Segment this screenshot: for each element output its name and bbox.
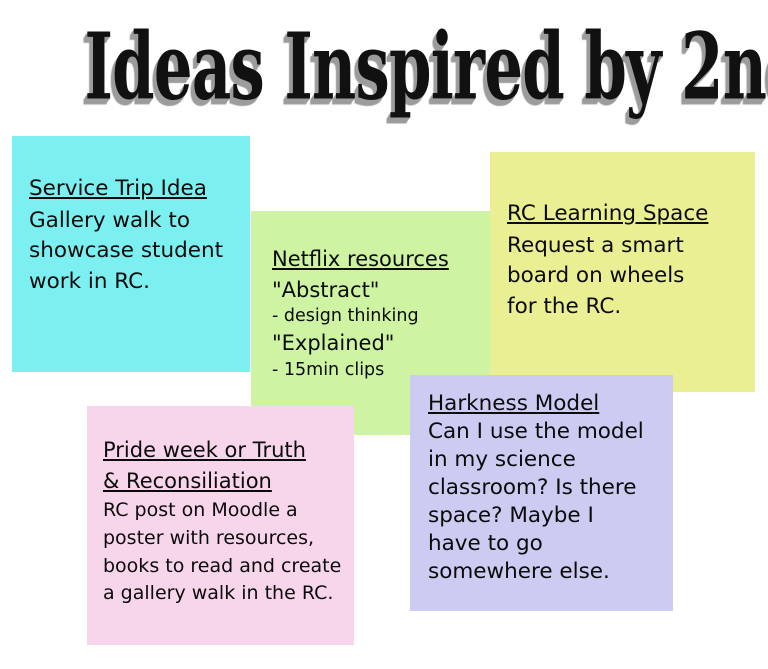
note-body-line: somewhere else. xyxy=(428,558,665,586)
note-body-line: classroom? Is there xyxy=(428,474,665,502)
sticky-note-board: Ideas Inspired by 2nd F2F Service Trip I… xyxy=(0,0,768,669)
note-body: Gallery walk to showcase student work in… xyxy=(29,206,234,298)
note-body-line: showcase student xyxy=(29,236,234,267)
note-body-line: Gallery walk to xyxy=(29,206,234,237)
note-body: Can I use the model in my science classr… xyxy=(428,418,665,586)
page-title: Ideas Inspired by 2nd F2F xyxy=(84,22,683,114)
note-body-line: "Explained" xyxy=(272,329,483,358)
note-body: "Abstract" - design thinking "Explained"… xyxy=(272,276,483,384)
note-body: RC post on Moodle a poster with resource… xyxy=(103,497,346,607)
note-body-subline: - design thinking xyxy=(272,304,483,329)
note-body-line: have to go xyxy=(428,530,665,558)
note-body-line: space? Maybe I xyxy=(428,502,665,530)
note-body-line: RC post on Moodle a xyxy=(103,497,346,525)
note-body: Request a smart board on wheels for the … xyxy=(507,231,747,323)
sticky-note-service-trip-idea[interactable]: Service Trip Idea Gallery walk to showca… xyxy=(12,136,250,372)
sticky-note-pride-week[interactable]: Pride week or Truth & Reconsiliation RC … xyxy=(87,406,354,645)
note-body-line: poster with resources, xyxy=(103,525,346,553)
note-body-line: work in RC. xyxy=(29,267,234,298)
note-heading: Netflix resources xyxy=(272,245,483,274)
note-body-line: Request a smart xyxy=(507,231,747,262)
note-body-line: "Abstract" xyxy=(272,276,483,305)
note-heading: RC Learning Space xyxy=(507,199,747,230)
note-body-line: board on wheels xyxy=(507,261,747,292)
note-heading-line-2: & Reconsiliation xyxy=(103,466,346,496)
note-body-line: a gallery walk in the RC. xyxy=(103,580,346,608)
note-body-line: Can I use the model xyxy=(428,418,665,446)
note-body-line: for the RC. xyxy=(507,292,747,323)
sticky-note-harkness-model[interactable]: Harkness Model Can I use the model in my… xyxy=(410,375,673,611)
sticky-note-rc-learning-space[interactable]: RC Learning Space Request a smart board … xyxy=(490,152,755,392)
note-body-line: in my science xyxy=(428,446,665,474)
note-heading-line-1: Pride week or Truth xyxy=(103,435,346,465)
note-body-line: books to read and create xyxy=(103,553,346,581)
note-heading: Harkness Model xyxy=(428,390,665,418)
note-heading: Service Trip Idea xyxy=(29,174,234,205)
